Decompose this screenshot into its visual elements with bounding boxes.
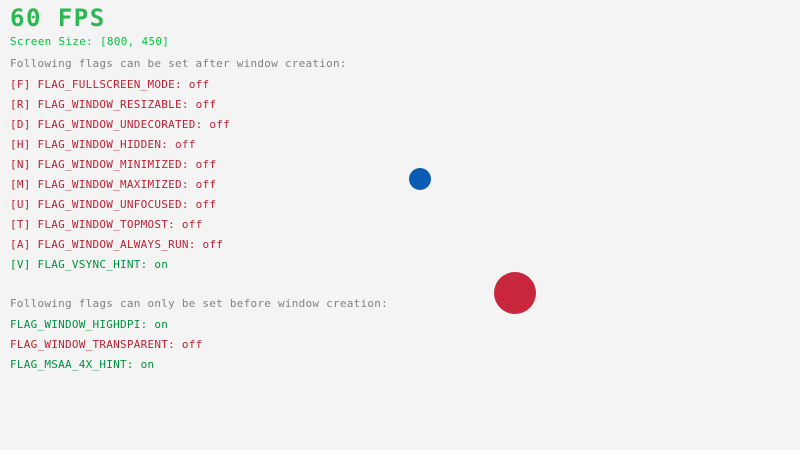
flag-state: off xyxy=(175,138,196,151)
flag-name: FLAG_WINDOW_RESIZABLE: xyxy=(38,98,189,111)
flag-state: on xyxy=(141,358,155,371)
screen-size-label: Screen Size: [800, 450] xyxy=(10,36,169,48)
flag-row[interactable]: [V] FLAG_VSYNC_HINT: on xyxy=(10,259,168,271)
flag-row[interactable]: [U] FLAG_WINDOW_UNFOCUSED: off xyxy=(10,199,216,211)
raylib-window: 60 FPS Screen Size: [800, 450] Following… xyxy=(0,0,800,450)
flag-name: FLAG_WINDOW_UNFOCUSED: xyxy=(38,198,189,211)
flag-row[interactable]: [F] FLAG_FULLSCREEN_MODE: off xyxy=(10,79,209,91)
flag-row[interactable]: FLAG_WINDOW_HIGHDPI: on xyxy=(10,319,168,331)
circle-red xyxy=(494,272,536,314)
flag-row[interactable]: [H] FLAG_WINDOW_HIDDEN: off xyxy=(10,139,196,151)
flag-row[interactable]: [N] FLAG_WINDOW_MINIMIZED: off xyxy=(10,159,216,171)
flag-row[interactable]: FLAG_MSAA_4X_HINT: on xyxy=(10,359,154,371)
flag-key: [M] xyxy=(10,178,31,191)
flag-key: [V] xyxy=(10,258,31,271)
flag-name: FLAG_WINDOW_MAXIMIZED: xyxy=(38,178,189,191)
flag-state: on xyxy=(154,258,168,271)
circle-blue xyxy=(409,168,431,190)
flag-row[interactable]: [R] FLAG_WINDOW_RESIZABLE: off xyxy=(10,99,216,111)
flag-name: FLAG_WINDOW_ALWAYS_RUN: xyxy=(38,238,196,251)
flag-name: FLAG_MSAA_4X_HINT: xyxy=(10,358,134,371)
flag-name: FLAG_WINDOW_MINIMIZED: xyxy=(38,158,189,171)
flag-key: [U] xyxy=(10,198,31,211)
heading-flags-before-creation: Following flags can only be set before w… xyxy=(10,298,388,310)
flag-name: FLAG_FULLSCREEN_MODE: xyxy=(38,78,182,91)
flag-row[interactable]: [M] FLAG_WINDOW_MAXIMIZED: off xyxy=(10,179,216,191)
fps-counter: 60 FPS xyxy=(10,6,106,30)
flag-row[interactable]: [T] FLAG_WINDOW_TOPMOST: off xyxy=(10,219,202,231)
flag-key: [A] xyxy=(10,238,31,251)
flag-state: off xyxy=(209,118,230,131)
flag-key: [D] xyxy=(10,118,31,131)
flag-name: FLAG_WINDOW_TRANSPARENT: xyxy=(10,338,175,351)
flag-row[interactable]: [D] FLAG_WINDOW_UNDECORATED: off xyxy=(10,119,230,131)
flag-name: FLAG_WINDOW_TOPMOST: xyxy=(38,218,175,231)
flag-name: FLAG_WINDOW_HIDDEN: xyxy=(38,138,169,151)
flag-key: [T] xyxy=(10,218,31,231)
flag-key: [N] xyxy=(10,158,31,171)
flag-key: [F] xyxy=(10,78,31,91)
flag-state: off xyxy=(196,198,217,211)
flag-row[interactable]: [A] FLAG_WINDOW_ALWAYS_RUN: off xyxy=(10,239,223,251)
flag-state: off xyxy=(202,238,223,251)
flag-state: off xyxy=(182,338,203,351)
flag-state: off xyxy=(196,98,217,111)
flag-state: off xyxy=(196,178,217,191)
flag-key: [H] xyxy=(10,138,31,151)
flag-state: off xyxy=(196,158,217,171)
flag-state: off xyxy=(182,218,203,231)
heading-flags-after-creation: Following flags can be set after window … xyxy=(10,58,347,70)
flag-state: off xyxy=(189,78,210,91)
flag-key: [R] xyxy=(10,98,31,111)
flag-name: FLAG_VSYNC_HINT: xyxy=(38,258,148,271)
flag-name: FLAG_WINDOW_UNDECORATED: xyxy=(38,118,203,131)
flag-row[interactable]: FLAG_WINDOW_TRANSPARENT: off xyxy=(10,339,202,351)
flag-state: on xyxy=(154,318,168,331)
flag-name: FLAG_WINDOW_HIGHDPI: xyxy=(10,318,147,331)
